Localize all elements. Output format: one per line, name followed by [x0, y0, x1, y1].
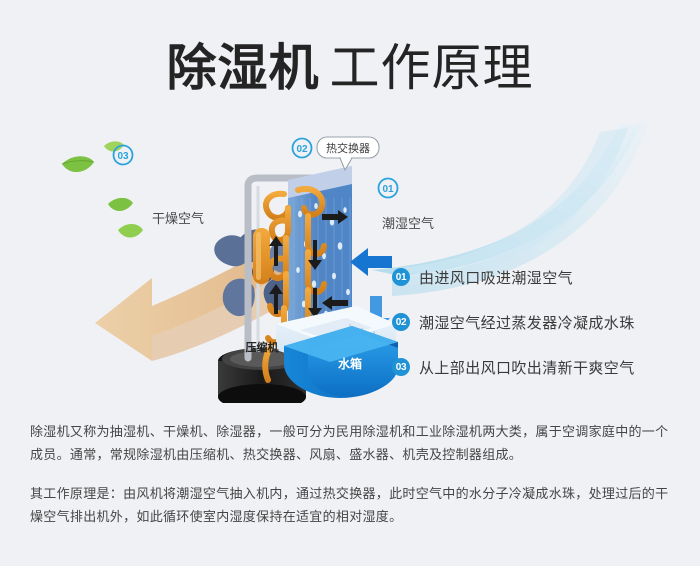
legend-badge-02: 02 — [392, 313, 410, 331]
page-title-bold: 除湿机 — [167, 40, 320, 96]
leaf-icon-group — [62, 141, 143, 237]
callout-01-label: 潮湿空气 — [382, 216, 434, 231]
water-tank-label: 水箱 — [338, 356, 362, 371]
body-paragraph-1: 除湿机又称为抽湿机、干燥机、除湿器，一般可分为民用除湿机和工业除湿机两大类，属于… — [30, 420, 675, 466]
legend-badge-03: 03 — [392, 358, 410, 376]
legend-item-03: 03 从上部出风口吹出清新干爽空气 — [392, 348, 635, 386]
receiver-tank-graphic — [253, 228, 270, 284]
legend-list: 01 由进风口吸进潮湿空气 02 潮湿空气经过蒸发器冷凝成水珠 03 从上部出风… — [392, 258, 635, 393]
legend-text-01: 由进风口吸进潮湿空气 — [419, 267, 573, 288]
callout-02-number: 02 — [296, 144, 308, 155]
legend-text-03: 从上部出风口吹出清新干爽空气 — [419, 357, 635, 378]
page-title: 除湿机工作原理 — [0, 28, 700, 100]
body-paragraph-2: 其工作原理是：由风机将潮湿空气抽入机内，通过热交换器，此时空气中的水分子冷凝成水… — [30, 482, 675, 528]
legend-text-02: 潮湿空气经过蒸发器冷凝成水珠 — [419, 312, 635, 333]
callout-02-label: 热交换器 — [326, 141, 370, 155]
legend-item-01: 01 由进风口吸进潮湿空气 — [392, 258, 635, 296]
legend-item-02: 02 潮湿空气经过蒸发器冷凝成水珠 — [392, 303, 635, 341]
legend-badge-01: 01 — [392, 268, 410, 286]
callout-03-dry-air: 03 干燥空气 — [114, 146, 205, 227]
callout-03-label: 干燥空气 — [152, 211, 204, 226]
callout-01-humid-air: 01 潮湿空气 — [379, 179, 435, 232]
callout-01-number: 01 — [382, 184, 394, 195]
compressor-label: 压缩机 — [246, 340, 279, 354]
body-copy: 除湿机又称为抽湿机、干燥机、除湿器，一般可分为民用除湿机和工业除湿机两大类，属于… — [30, 420, 675, 528]
page-title-light: 工作原理 — [330, 40, 534, 96]
callout-02-heat-exchanger: 02 热交换器 — [293, 137, 380, 170]
callout-03-number: 03 — [117, 151, 129, 162]
